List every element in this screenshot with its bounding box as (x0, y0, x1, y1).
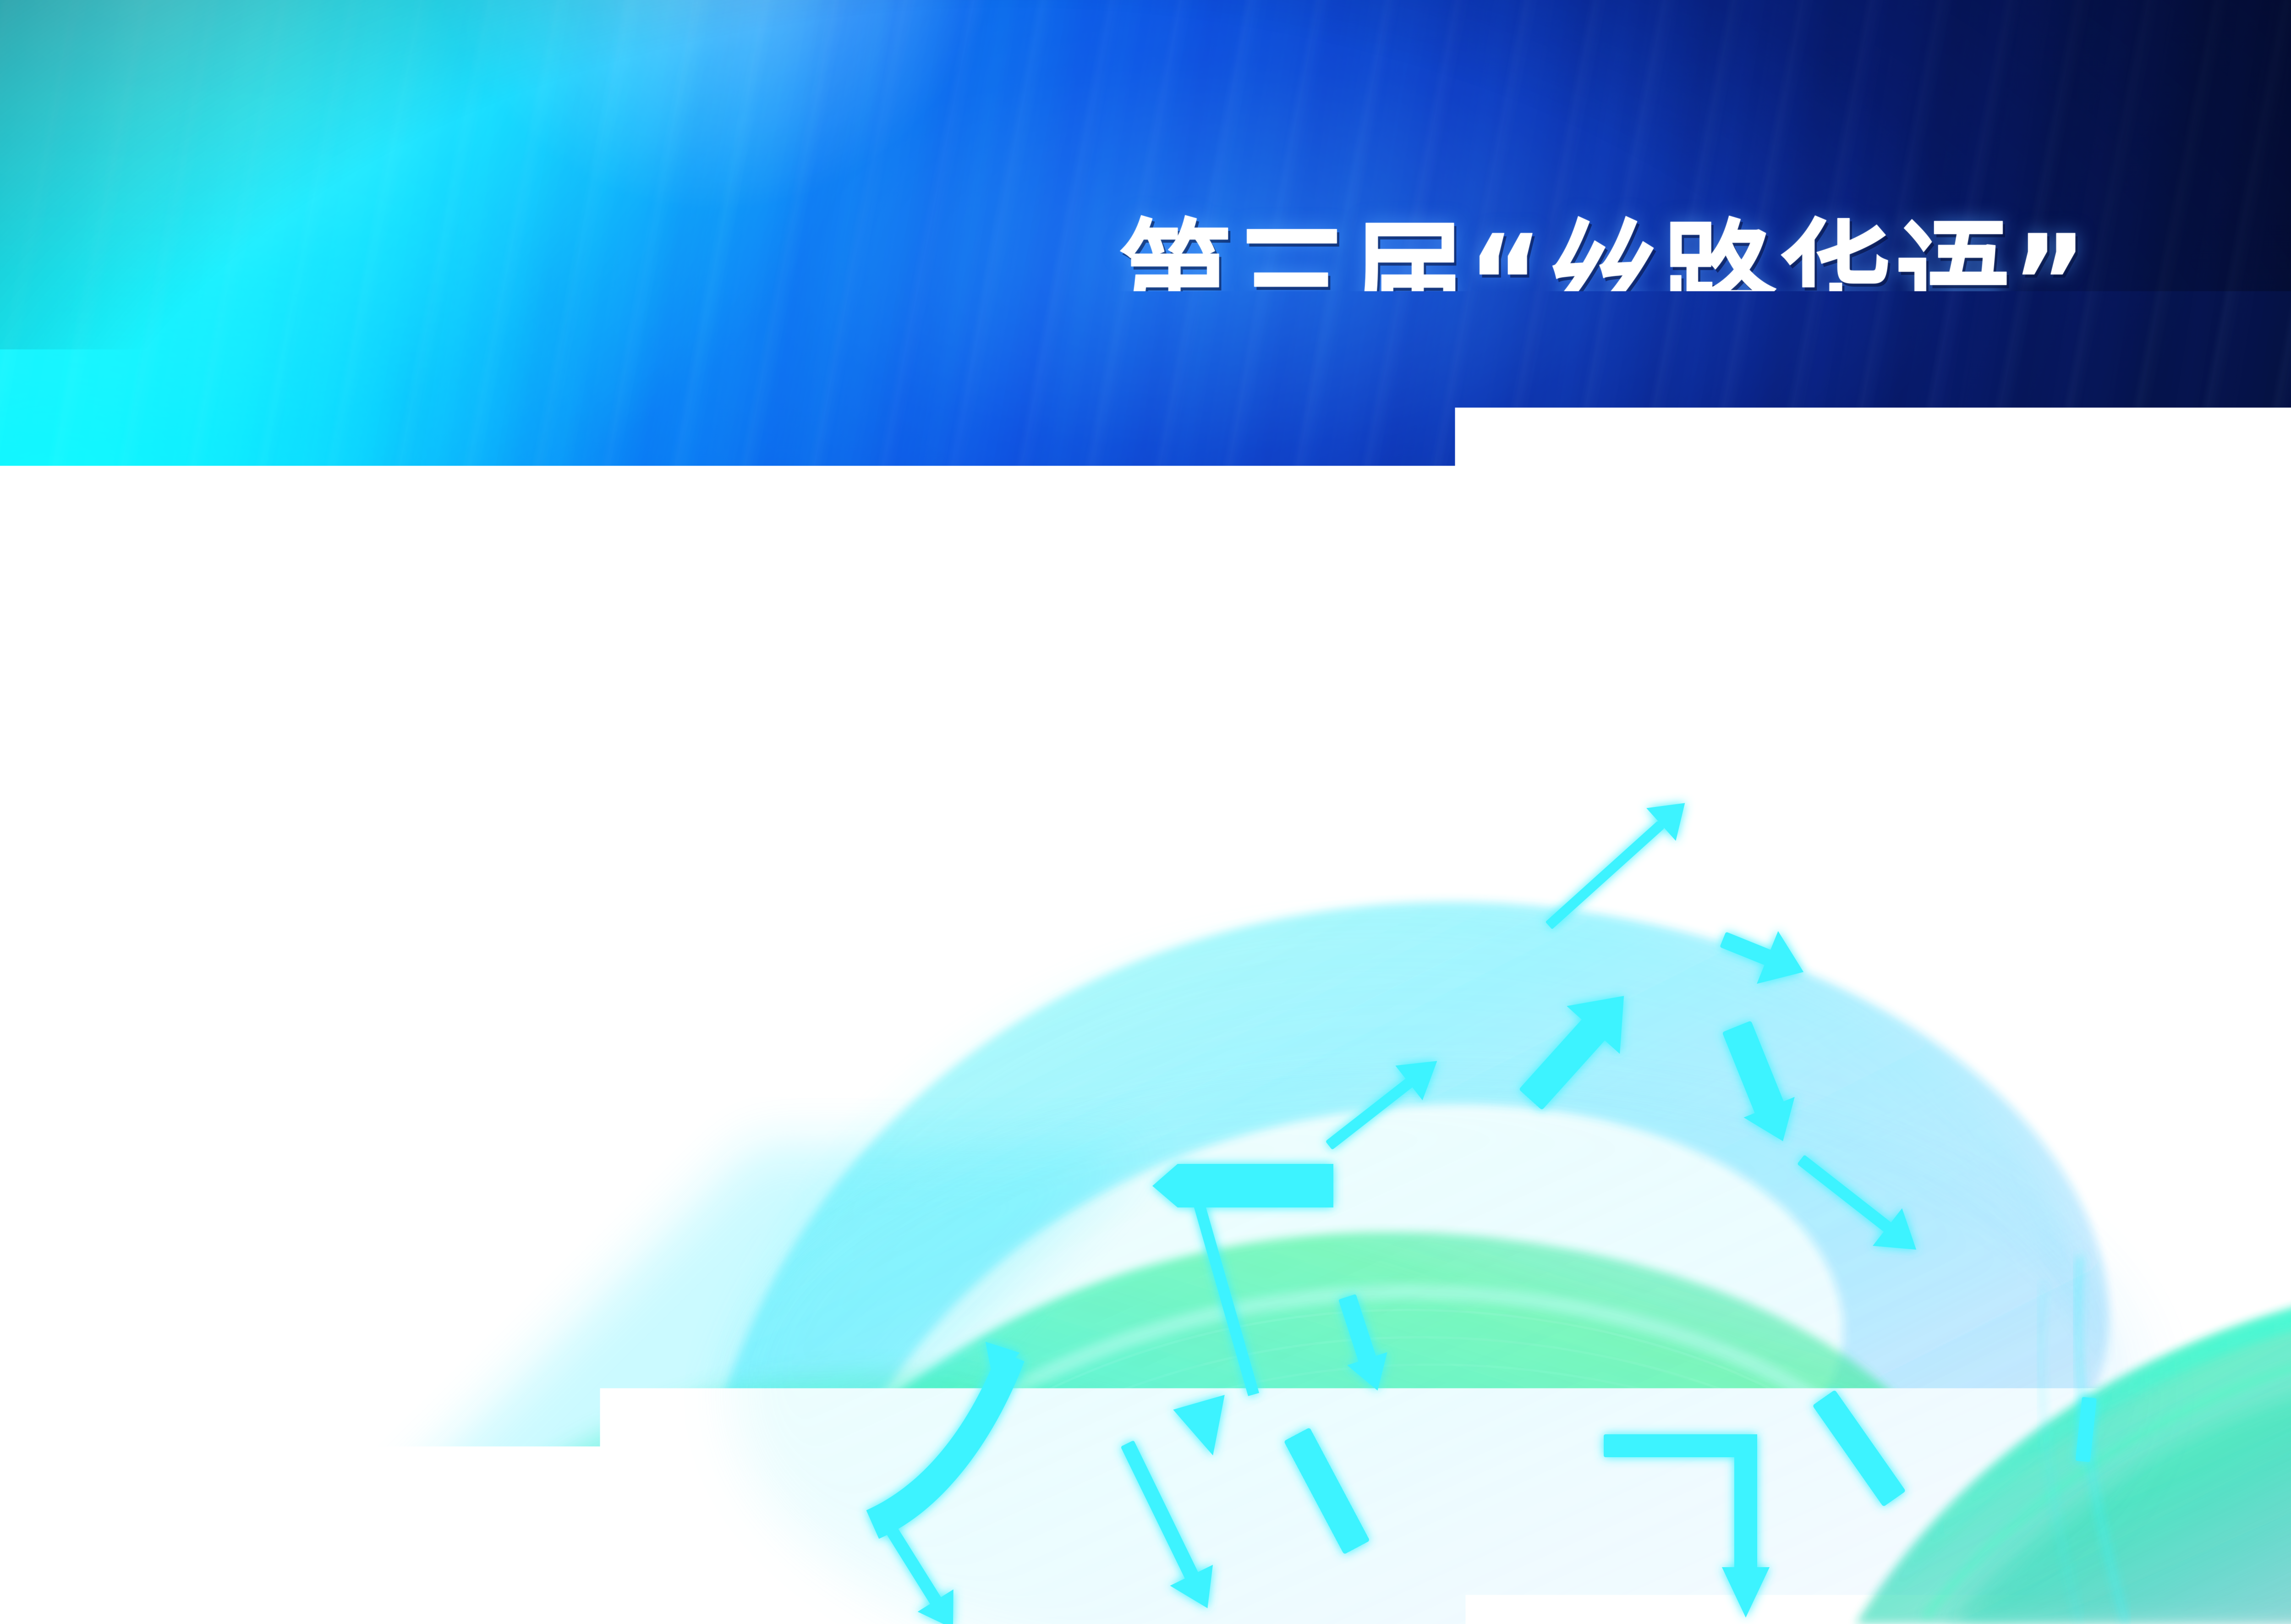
ribbon-highlight (770, 1292, 1957, 1624)
ribbon-lobe-left (412, 1372, 1327, 1624)
cyan-arrow (1504, 972, 1650, 1124)
ribbon-loop-upper (678, 902, 2109, 1624)
cyan-arrow (1711, 1016, 1808, 1152)
cyan-arrow (861, 1325, 1027, 1561)
cyan-arrow (1534, 787, 1699, 942)
cyan-beam-bottom-left (275, 1146, 1145, 1624)
cyan-arrow (1812, 1390, 1906, 1507)
subtitle-en-line1: THE SECOND" SILK ROAD CHINESE" INTERNATI… (321, 532, 2291, 589)
cyan-arrow (1327, 1290, 1398, 1397)
cyan-arrow-group (861, 787, 2097, 1624)
green-wave-crest (1888, 1282, 2291, 1590)
cyan-sweep-lines (2041, 930, 2291, 1624)
cyan-arrow (1106, 1433, 1229, 1619)
cyan-arrow (2075, 1397, 2096, 1462)
ribbon-blade-green (715, 1232, 1988, 1624)
green-wave-right (1856, 1274, 2291, 1624)
arc-fan-upper (655, 924, 2117, 1586)
cyan-arrow (1315, 1043, 1451, 1163)
ribbon-halo (733, 1077, 2154, 1624)
subtitle-en-line2: COMPETENCE COMPETITION (321, 589, 2291, 646)
title-block: 第三届“丝路华语” 国际汉语教学职业能力大赛 THE SECOND" SILK … (0, 215, 2291, 646)
cyan-arrow (1284, 1427, 1370, 1554)
green-wave-right-2 (1947, 1345, 2291, 1624)
event-banner: 第三届“丝路华语” 国际汉语教学职业能力大赛 THE SECOND" SILK … (0, 0, 2291, 1624)
ribbon-striations (779, 1310, 1989, 1624)
cyan-arrow (1712, 913, 1814, 999)
cyan-arrow (1604, 1434, 1770, 1618)
page-title-cn-line1: 第三届“丝路华语” (225, 215, 2291, 354)
cyan-arrow (871, 1515, 971, 1624)
cyan-arrow (1786, 1141, 1931, 1268)
subtitle-en-block: THE SECOND" SILK ROAD CHINESE" INTERNATI… (0, 532, 2291, 646)
page-title-cn-line2: 国际汉语教学职业能力大赛 (225, 362, 2291, 505)
cyan-arrow (1152, 1164, 1333, 1463)
